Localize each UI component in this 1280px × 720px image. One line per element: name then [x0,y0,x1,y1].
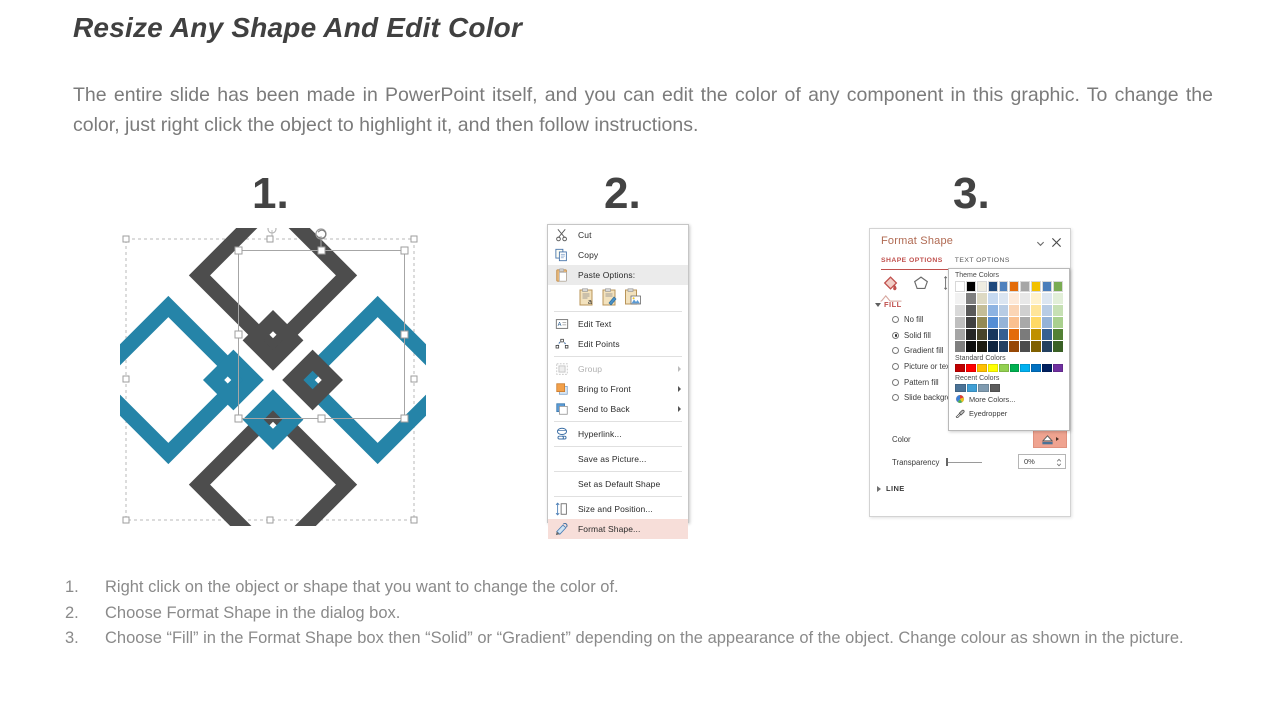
menu-item-cut-label: Cut [578,230,592,240]
theme-color-swatch-3-6[interactable] [1020,317,1030,328]
transparency-value: 0% [1024,457,1035,466]
copy-icon [555,248,569,262]
recent-color-swatch-3[interactable] [990,384,1001,392]
theme-color-swatch-1-1[interactable] [966,293,976,304]
recent-colors-row[interactable] [955,384,1063,392]
color-picker-flyout[interactable]: Theme Colors Standard Colors Recent Colo… [948,268,1070,431]
instruction-number-1: 1. [65,575,105,601]
theme-color-swatch-2-4[interactable] [999,305,1009,316]
menu-item-send-to-back-label: Send to Back [578,404,630,414]
submenu-arrow-icon [678,406,681,412]
handle-outer-se [411,517,417,523]
format-shape-title: Format Shape [881,235,953,247]
theme-colors-label: Theme Colors [949,269,1069,281]
fill-section-header: FILL [884,300,902,309]
handle-outer-w [123,376,129,382]
shape-graphic-panel [120,228,426,526]
standard-colors-label: Standard Colors [949,352,1069,364]
theme-color-swatch-3-2[interactable] [977,317,987,328]
theme-color-swatch-4-7[interactable] [1031,329,1041,340]
rotate-arrow-icon [318,230,326,238]
paste-options-button-row[interactable]: a [548,285,688,309]
theme-color-swatch-5-8[interactable] [1042,341,1052,352]
handle-inner-sw [235,415,242,422]
color-picker-button[interactable] [1033,430,1067,448]
theme-color-swatch-2-5[interactable] [1009,305,1019,316]
menu-item-edit-text[interactable]: A Edit Text [548,314,688,334]
theme-color-swatch-0-2[interactable] [977,281,987,292]
standard-color-swatch-2[interactable] [977,364,987,372]
menu-item-hyperlink-label: Hyperlink... [578,429,622,439]
instructions-list: 1. Right click on the object or shape th… [65,575,1280,652]
instruction-item-2: 2. Choose Format Shape in the dialog box… [65,601,1280,627]
fill-section-caret-icon[interactable] [875,303,881,307]
theme-color-swatch-2-8[interactable] [1042,305,1052,316]
transparency-row[interactable]: Transparency 0% [892,457,1064,467]
theme-color-swatch-3-3[interactable] [988,317,998,328]
menu-item-edit-points-label: Edit Points [578,339,620,349]
step-number-3: 3. [953,172,990,216]
standard-colors-row[interactable] [955,364,1063,372]
radio-indicator[interactable] [892,394,899,401]
menu-item-paste-options[interactable]: Paste Options: [548,265,688,285]
menu-item-save-as-picture[interactable]: Save as Picture... [548,449,688,469]
instruction-item-3: 3. Choose “Fill” in the Format Shape box… [65,626,1280,652]
radio-indicator[interactable] [892,347,899,354]
theme-color-swatch-5-2[interactable] [977,341,987,352]
submenu-arrow-icon [678,386,681,392]
size-position-icon [555,502,569,516]
spinner-arrows-icon[interactable] [1056,457,1062,468]
theme-color-swatch-2-0[interactable] [955,305,965,316]
step-number-2: 2. [604,172,641,216]
theme-color-swatch-2-3[interactable] [988,305,998,316]
recent-color-swatch-1[interactable] [967,384,978,392]
edit-text-icon: A [555,317,569,331]
theme-color-swatch-1-0[interactable] [955,293,965,304]
theme-color-swatch-1-7[interactable] [1031,293,1041,304]
theme-color-swatch-4-1[interactable] [966,329,976,340]
instruction-text-3: Choose “Fill” in the Format Shape box th… [105,626,1280,652]
hyperlink-icon [555,427,569,441]
theme-color-swatch-5-6[interactable] [1020,341,1030,352]
transparency-value-field[interactable]: 0% [1018,454,1066,469]
menu-item-size-and-position[interactable]: Size and Position... [548,499,688,519]
slider-thumb[interactable] [946,458,948,466]
radio-indicator[interactable] [892,379,899,386]
menu-item-send-to-back[interactable]: Send to Back [548,399,688,419]
theme-color-swatch-3-5[interactable] [1009,317,1019,328]
standard-color-swatch-7[interactable] [1031,364,1041,372]
standard-color-swatch-3[interactable] [988,364,998,372]
theme-color-swatch-0-1[interactable] [966,281,976,292]
theme-color-swatch-3-0[interactable] [955,317,965,328]
line-section-header: LINE [886,484,905,493]
outer-handle-group [123,236,417,523]
bring-front-icon [555,382,569,396]
pentagon-effects-icon[interactable] [912,274,930,292]
close-icon[interactable] [1051,237,1062,248]
menu-item-bring-to-front[interactable]: Bring to Front [548,379,688,399]
edit-points-icon [555,337,569,351]
menu-item-bring-to-front-label: Bring to Front [578,384,631,394]
theme-color-swatch-0-8[interactable] [1042,281,1052,292]
theme-color-swatch-1-4[interactable] [999,293,1009,304]
theme-color-swatch-5-4[interactable] [999,341,1009,352]
eyedropper-item[interactable]: Eyedropper [949,406,1069,420]
color-wheel-icon [955,394,965,404]
transparency-slider[interactable] [944,457,982,467]
theme-colors-grid[interactable] [955,281,1063,352]
menu-item-format-shape[interactable]: Format Shape... [548,519,688,539]
handle-inner-n [318,247,325,254]
theme-color-swatch-5-5[interactable] [1009,341,1019,352]
diamond-bottom-right-dark [199,411,346,526]
menu-item-hyperlink[interactable]: Hyperlink... [548,424,688,444]
theme-color-swatch-4-6[interactable] [1020,329,1030,340]
handle-outer-e [411,376,417,382]
handle-outer-sw [123,517,129,523]
theme-color-swatch-2-7[interactable] [1031,305,1041,316]
theme-color-swatch-5-0[interactable] [955,341,965,352]
page-subtitle: The entire slide has been made in PowerP… [73,80,1213,140]
theme-color-swatch-0-9[interactable] [1053,281,1063,292]
fill-bucket-icon[interactable] [882,274,900,292]
format-shape-tabs[interactable]: SHAPE OPTIONS TEXT OPTIONS [881,257,1010,264]
instruction-text-1: Right click on the object or shape that … [105,575,1280,601]
active-tab-underline [881,269,955,270]
theme-color-swatch-4-5[interactable] [1009,329,1019,340]
standard-color-swatch-4[interactable] [999,364,1009,372]
theme-color-swatch-2-2[interactable] [977,305,987,316]
svg-text:a: a [588,299,592,306]
standard-color-swatch-9[interactable] [1053,364,1063,372]
handle-inner-ne [401,247,408,254]
menu-item-size-and-position-label: Size and Position... [578,504,653,514]
instruction-number-2: 2. [65,601,105,627]
paste-picture-icon[interactable] [624,288,642,306]
theme-color-swatch-1-6[interactable] [1020,293,1030,304]
radio-gradient-fill-label: Gradient fill [904,346,943,355]
menu-separator-3 [554,421,682,422]
handle-outer-n [267,236,273,242]
submenu-arrow-icon [678,366,681,372]
color-row[interactable]: Color [892,435,1062,444]
handle-inner-s [318,415,325,422]
tab-shape-options[interactable]: SHAPE OPTIONS [881,257,943,264]
menu-item-set-default-shape[interactable]: Set as Default Shape [548,474,688,494]
color-dropdown-arrow-icon[interactable] [1056,437,1059,441]
theme-color-swatch-2-1[interactable] [966,305,976,316]
standard-color-swatch-8[interactable] [1042,364,1052,372]
theme-color-swatch-1-8[interactable] [1042,293,1052,304]
scissors-icon [555,228,569,242]
radio-indicator[interactable] [892,363,899,370]
slider-track [948,462,982,463]
theme-color-swatch-0-6[interactable] [1020,281,1030,292]
page-title: Resize Any Shape And Edit Color [73,12,522,44]
radio-indicator[interactable] [892,332,899,339]
recent-colors-label: Recent Colors [949,372,1069,384]
theme-color-swatch-2-6[interactable] [1020,305,1030,316]
handle-inner-nw [235,247,242,254]
format-shape-icon [555,522,569,536]
paste-destination-theme-icon[interactable] [601,288,619,306]
handle-outer-ne [411,236,417,242]
theme-color-swatch-1-2[interactable] [977,293,987,304]
theme-color-swatch-1-9[interactable] [1053,293,1063,304]
more-colors-label: More Colors... [969,395,1015,404]
theme-color-swatch-1-5[interactable] [1009,293,1019,304]
theme-color-swatch-3-8[interactable] [1042,317,1052,328]
theme-color-swatch-5-9[interactable] [1053,341,1063,352]
theme-color-swatch-4-8[interactable] [1042,329,1052,340]
menu-item-save-as-picture-label: Save as Picture... [578,454,646,464]
paste-keep-source-icon[interactable]: a [578,288,596,306]
instruction-item-1: 1. Right click on the object or shape th… [65,575,1280,601]
chevron-down-icon[interactable] [1036,239,1045,248]
theme-color-swatch-4-9[interactable] [1053,329,1063,340]
eyedropper-label: Eyedropper [969,409,1007,418]
theme-color-swatch-3-7[interactable] [1031,317,1041,328]
theme-color-swatch-0-3[interactable] [988,281,998,292]
theme-color-swatch-4-0[interactable] [955,329,965,340]
menu-item-edit-points[interactable]: Edit Points [548,334,688,354]
menu-item-edit-text-label: Edit Text [578,319,611,329]
theme-color-swatch-0-5[interactable] [1009,281,1019,292]
menu-item-format-shape-label: Format Shape... [578,524,640,534]
right-click-context-menu[interactable]: Cut Copy Paste Options: a [547,224,689,523]
fill-color-swatch-icon [1041,433,1054,446]
radio-pattern-fill-label: Pattern fill [904,378,939,387]
radio-no-fill-label: No fill [904,315,924,324]
menu-item-set-default-shape-label: Set as Default Shape [578,479,660,489]
standard-color-swatch-1[interactable] [966,364,976,372]
menu-separator-1 [554,311,682,312]
menu-item-cut[interactable]: Cut [548,225,688,245]
menu-item-paste-options-label: Paste Options: [578,270,635,280]
handle-outer-nw [123,236,129,242]
theme-color-swatch-0-7[interactable] [1031,281,1041,292]
radio-indicator[interactable] [892,316,899,323]
instruction-text-2: Choose Format Shape in the dialog box. [105,601,1280,627]
radio-solid-fill-label: Solid fill [904,331,931,340]
line-section-caret-icon[interactable] [877,486,881,492]
svg-text:A: A [558,322,562,328]
menu-item-copy-label: Copy [578,250,598,260]
standard-color-swatch-5[interactable] [1010,364,1020,372]
handle-inner-w [235,331,242,338]
tab-text-options[interactable]: TEXT OPTIONS [955,257,1010,264]
theme-color-swatch-0-0[interactable] [955,281,965,292]
menu-separator-5 [554,471,682,472]
menu-item-copy[interactable]: Copy [548,245,688,265]
more-colors-item[interactable]: More Colors... [949,392,1069,406]
eyedropper-icon [955,408,965,418]
theme-color-swatch-3-4[interactable] [999,317,1009,328]
menu-separator-6 [554,496,682,497]
transparency-label: Transparency [892,458,939,467]
theme-color-swatch-0-4[interactable] [999,281,1009,292]
outer-selection-box [126,239,414,520]
theme-color-swatch-4-3[interactable] [988,329,998,340]
theme-color-swatch-1-3[interactable] [988,293,998,304]
menu-item-group-label: Group [578,364,602,374]
theme-color-swatch-5-1[interactable] [966,341,976,352]
send-back-icon [555,402,569,416]
theme-color-swatch-4-4[interactable] [999,329,1009,340]
handle-inner-se [401,415,408,422]
step-number-1: 1. [252,172,289,216]
standard-color-swatch-6[interactable] [1020,364,1030,372]
theme-color-swatch-4-2[interactable] [977,329,987,340]
theme-color-swatch-3-9[interactable] [1053,317,1063,328]
color-label: Color [892,435,911,444]
recent-color-swatch-0[interactable] [955,384,966,392]
theme-color-swatch-5-7[interactable] [1031,341,1041,352]
interlocking-diamonds-graphic[interactable] [120,228,426,526]
theme-color-swatch-5-3[interactable] [988,341,998,352]
standard-color-swatch-0[interactable] [955,364,965,372]
menu-separator-2 [554,356,682,357]
theme-color-swatch-2-9[interactable] [1053,305,1063,316]
handle-inner-e [401,331,408,338]
instruction-number-3: 3. [65,626,105,652]
group-icon [555,362,569,376]
menu-item-group[interactable]: Group [548,359,688,379]
handle-outer-s [267,517,273,523]
theme-color-swatch-3-1[interactable] [966,317,976,328]
clipboard-icon [555,268,569,282]
menu-separator-4 [554,446,682,447]
recent-color-swatch-2[interactable] [978,384,989,392]
